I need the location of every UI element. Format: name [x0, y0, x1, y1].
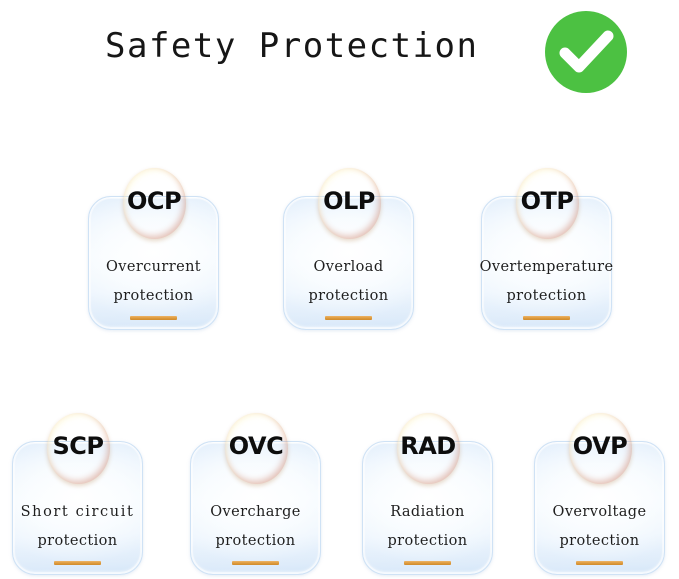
card-line-2: protection	[169, 527, 342, 556]
card-body-scp: Short circuit protection	[0, 498, 164, 565]
protection-card-ocp[interactable]: OCP Overcurrent protection	[88, 196, 219, 330]
protection-card-rad[interactable]: RAD Radiation protection	[362, 441, 493, 575]
card-underline	[523, 316, 570, 320]
badge-code-label: OVP	[573, 434, 627, 458]
card-line-2: protection	[262, 282, 435, 311]
header: Safety Protection	[0, 0, 679, 110]
page-title: Safety Protection	[105, 24, 479, 68]
protection-card-ovc[interactable]: OVC Overcharge protection	[190, 441, 321, 575]
card-line-2: protection	[67, 282, 240, 311]
badge-olp: OLP	[318, 168, 381, 239]
card-line-1: Overcurrent	[67, 253, 240, 282]
card-line-2: protection	[0, 527, 164, 556]
check-circle-svg	[541, 7, 631, 97]
badge-ovp: OVP	[569, 413, 632, 484]
badge-otp: OTP	[516, 168, 579, 239]
card-line-2: protection	[460, 282, 633, 311]
badge-ocp: OCP	[123, 168, 186, 239]
protection-card-olp[interactable]: OLP Overload protection	[283, 196, 414, 330]
card-line-1: Overcharge	[169, 498, 342, 527]
badge-code-label: RAD	[400, 434, 455, 458]
protection-card-row-1: OCP Overcurrent protection OLP Overload …	[0, 196, 679, 336]
badge-rad: RAD	[397, 413, 460, 484]
badge-code-label: OTP	[521, 189, 574, 213]
card-body-ocp: Overcurrent protection	[67, 253, 240, 320]
card-body-olp: Overload protection	[262, 253, 435, 320]
badge-code-label: SCP	[53, 434, 104, 458]
card-underline	[232, 561, 279, 565]
badge-ovc: OVC	[225, 413, 288, 484]
card-line-1: Overtemperature	[460, 253, 633, 282]
badge-scp: SCP	[47, 413, 110, 484]
card-body-ovp: Overvoltage protection	[513, 498, 679, 565]
card-line-1: Radiation	[341, 498, 514, 527]
card-line-1: Overvoltage	[513, 498, 679, 527]
card-body-ovc: Overcharge protection	[169, 498, 342, 565]
card-underline	[130, 316, 177, 320]
protection-card-ovp[interactable]: OVP Overvoltage protection	[534, 441, 665, 575]
badge-code-label: OCP	[127, 189, 181, 213]
protection-card-scp[interactable]: SCP Short circuit protection	[12, 441, 143, 575]
badge-code-label: OLP	[323, 189, 375, 213]
card-underline	[404, 561, 451, 565]
card-line-1: Overload	[262, 253, 435, 282]
card-body-otp: Overtemperature protection	[460, 253, 633, 320]
protection-card-row-2: SCP Short circuit protection OVC Overcha…	[0, 441, 679, 579]
card-line-1: Short circuit	[0, 498, 164, 527]
card-underline	[54, 561, 101, 565]
card-body-rad: Radiation protection	[341, 498, 514, 565]
protection-card-otp[interactable]: OTP Overtemperature protection	[481, 196, 612, 330]
card-underline	[576, 561, 623, 565]
card-line-2: protection	[341, 527, 514, 556]
card-underline	[325, 316, 372, 320]
card-line-2: protection	[513, 527, 679, 556]
green-check-circle-icon	[541, 7, 631, 97]
badge-code-label: OVC	[229, 434, 283, 458]
